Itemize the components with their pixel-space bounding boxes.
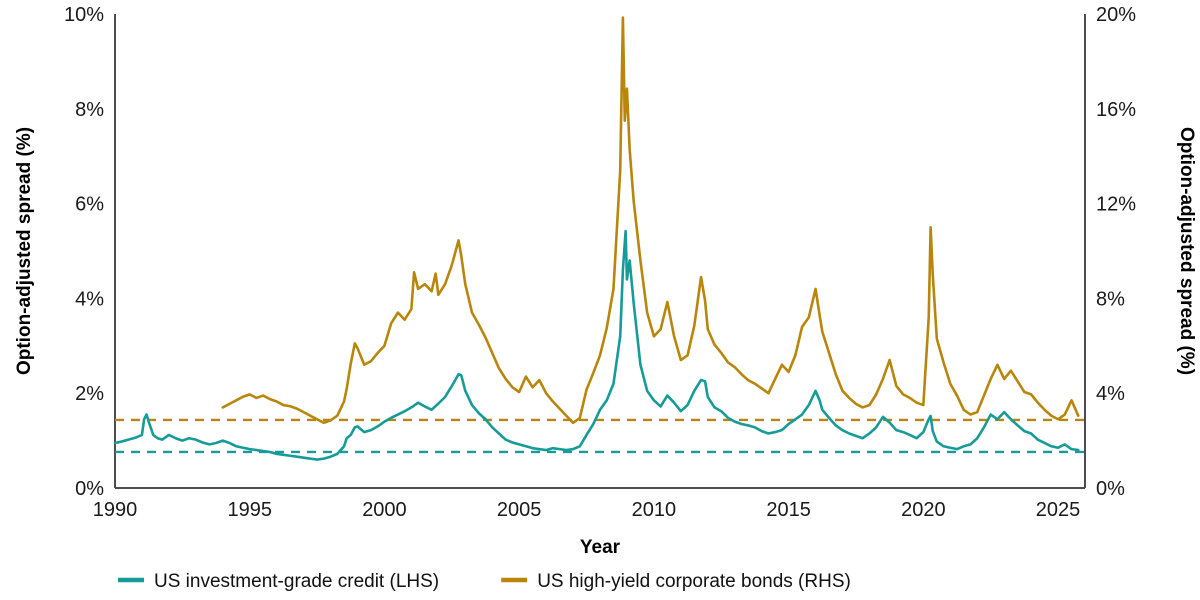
legend-label: US high-yield corporate bonds (RHS) [537, 571, 851, 592]
x-tick-label: 1990 [93, 499, 138, 521]
x-tick-label: 2025 [1036, 499, 1081, 521]
legend-item-1[interactable]: US investment-grade credit (LHS) [118, 571, 439, 592]
x-tick-label: 2020 [901, 499, 946, 521]
option-adjusted-spread-line-chart: 0%2%4%6%8%10% 0%4%8%12%16%20% 1990199520… [0, 0, 1200, 600]
right-tick-label: 8% [1096, 288, 1125, 310]
chart-container: 0%2%4%6%8%10% 0%4%8%12%16%20% 1990199520… [0, 0, 1200, 600]
right-tick-label: 0% [1096, 478, 1125, 500]
x-tick-label: 2010 [632, 499, 677, 521]
left-tick-label: 4% [75, 288, 104, 310]
left-tick-label: 6% [75, 194, 104, 216]
right-tick-label: 4% [1096, 383, 1125, 405]
chart-background [0, 0, 1200, 600]
x-tick-label: 1995 [227, 499, 272, 521]
right-tick-label: 12% [1096, 194, 1136, 216]
legend-item-2[interactable]: US high-yield corporate bonds (RHS) [501, 571, 851, 592]
x-tick-label: 2015 [766, 499, 811, 521]
x-axis-title: Year [580, 537, 621, 558]
legend-label: US investment-grade credit (LHS) [154, 571, 439, 592]
left-tick-label: 0% [75, 478, 104, 500]
left-tick-label: 2% [75, 383, 104, 405]
left-tick-label: 10% [64, 4, 104, 26]
right-tick-label: 20% [1096, 4, 1136, 26]
left-axis-title: Option-adjusted spread (%) [14, 127, 35, 375]
left-tick-label: 8% [75, 99, 104, 121]
right-tick-label: 16% [1096, 99, 1136, 121]
x-tick-label: 2000 [362, 499, 407, 521]
x-tick-label: 2005 [497, 499, 542, 521]
right-axis-title: Option-adjusted spread (%) [1176, 127, 1197, 375]
